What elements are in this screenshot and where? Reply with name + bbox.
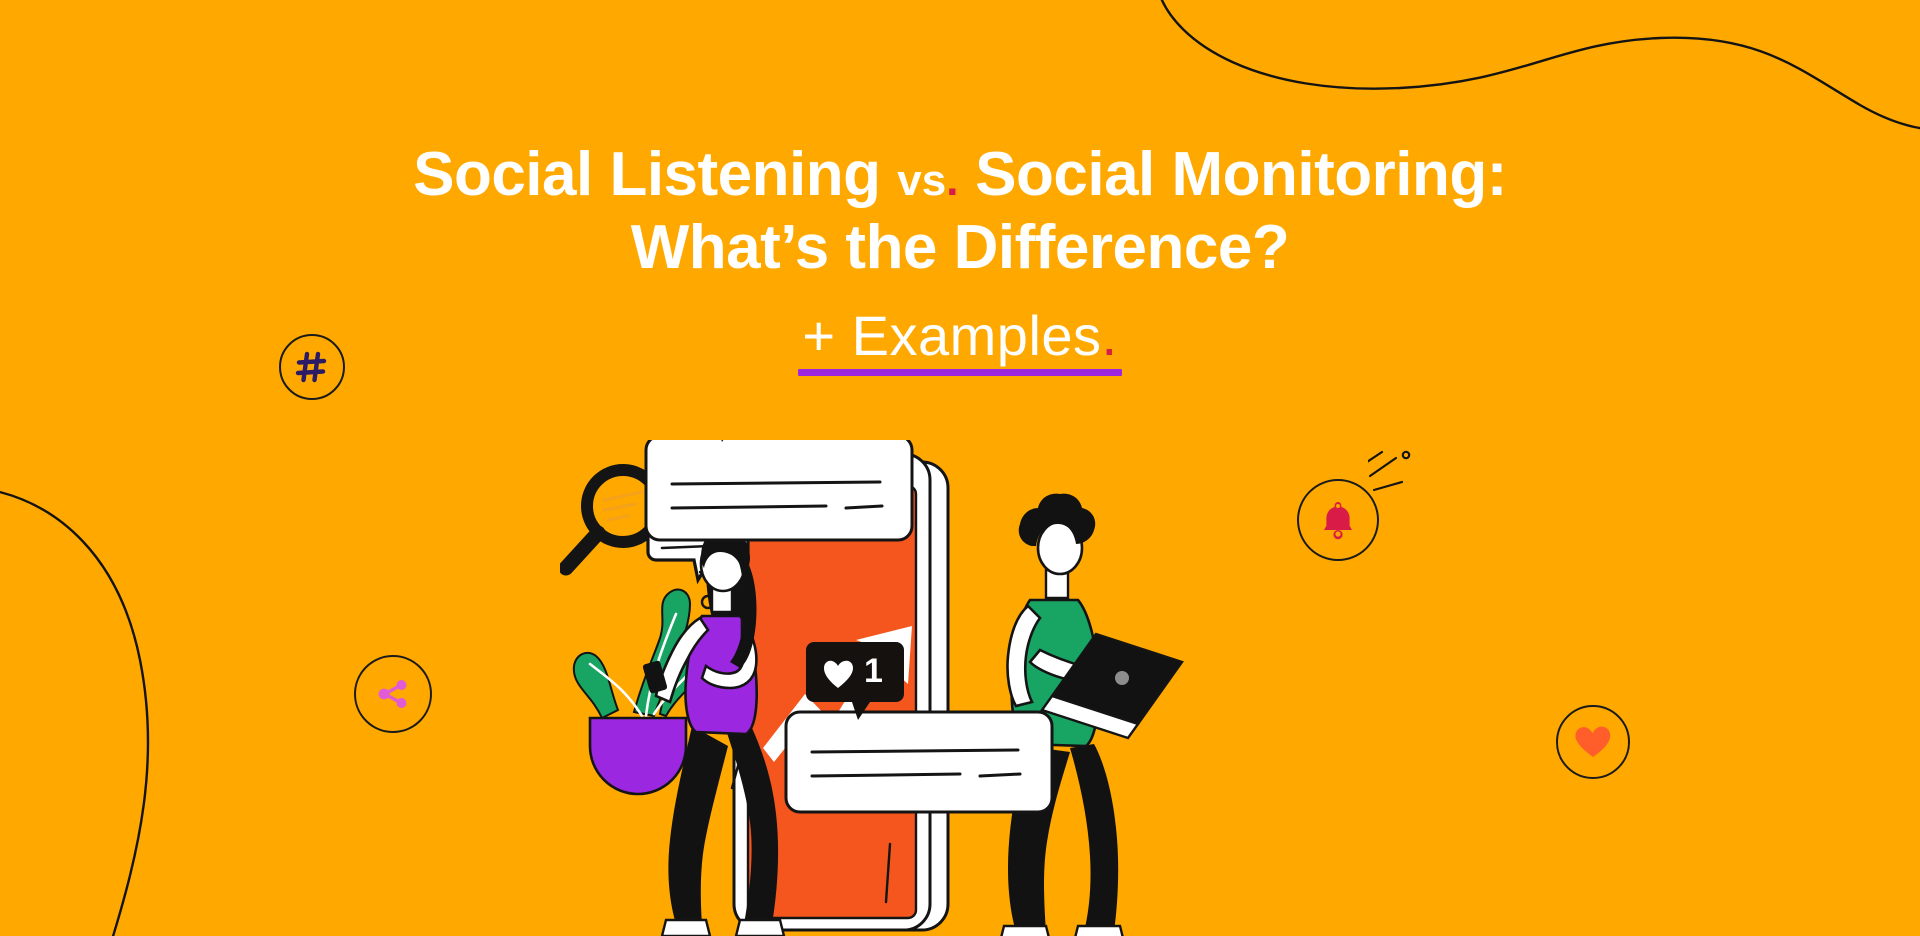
page-title: Social Listening vs. Social Monitoring: … (0, 140, 1920, 283)
title-line2: What’s the Difference? (0, 213, 1920, 282)
examples-text: + Examples (802, 304, 1101, 367)
headline-block: Social Listening vs. Social Monitoring: … (0, 140, 1920, 376)
heart-badge (1556, 705, 1630, 779)
examples-row: + Examples. (0, 305, 1920, 377)
title-vs-dot: . (946, 156, 958, 205)
potted-plant (574, 590, 701, 794)
bell-badge (1297, 479, 1379, 561)
title-line1-part2: Social Monitoring: (958, 140, 1506, 209)
bell-icon (1317, 498, 1359, 542)
hero-illustration: 8 1 (560, 440, 1400, 936)
left-curve-line (0, 488, 148, 936)
hero-banner: Social Listening vs. Social Monitoring: … (0, 0, 1920, 936)
top-wave-line (1158, 0, 1920, 130)
examples-underlined-label: + Examples. (798, 305, 1121, 377)
notification-card-top: 8 (646, 440, 912, 540)
heart-icon (1573, 724, 1613, 760)
title-vs: vs (897, 156, 946, 205)
examples-dot: . (1102, 304, 1118, 367)
title-line1-part1: Social Listening (413, 140, 897, 209)
share-icon (373, 674, 413, 714)
share-badge (354, 655, 432, 733)
like-count-1: 1 (864, 652, 883, 690)
